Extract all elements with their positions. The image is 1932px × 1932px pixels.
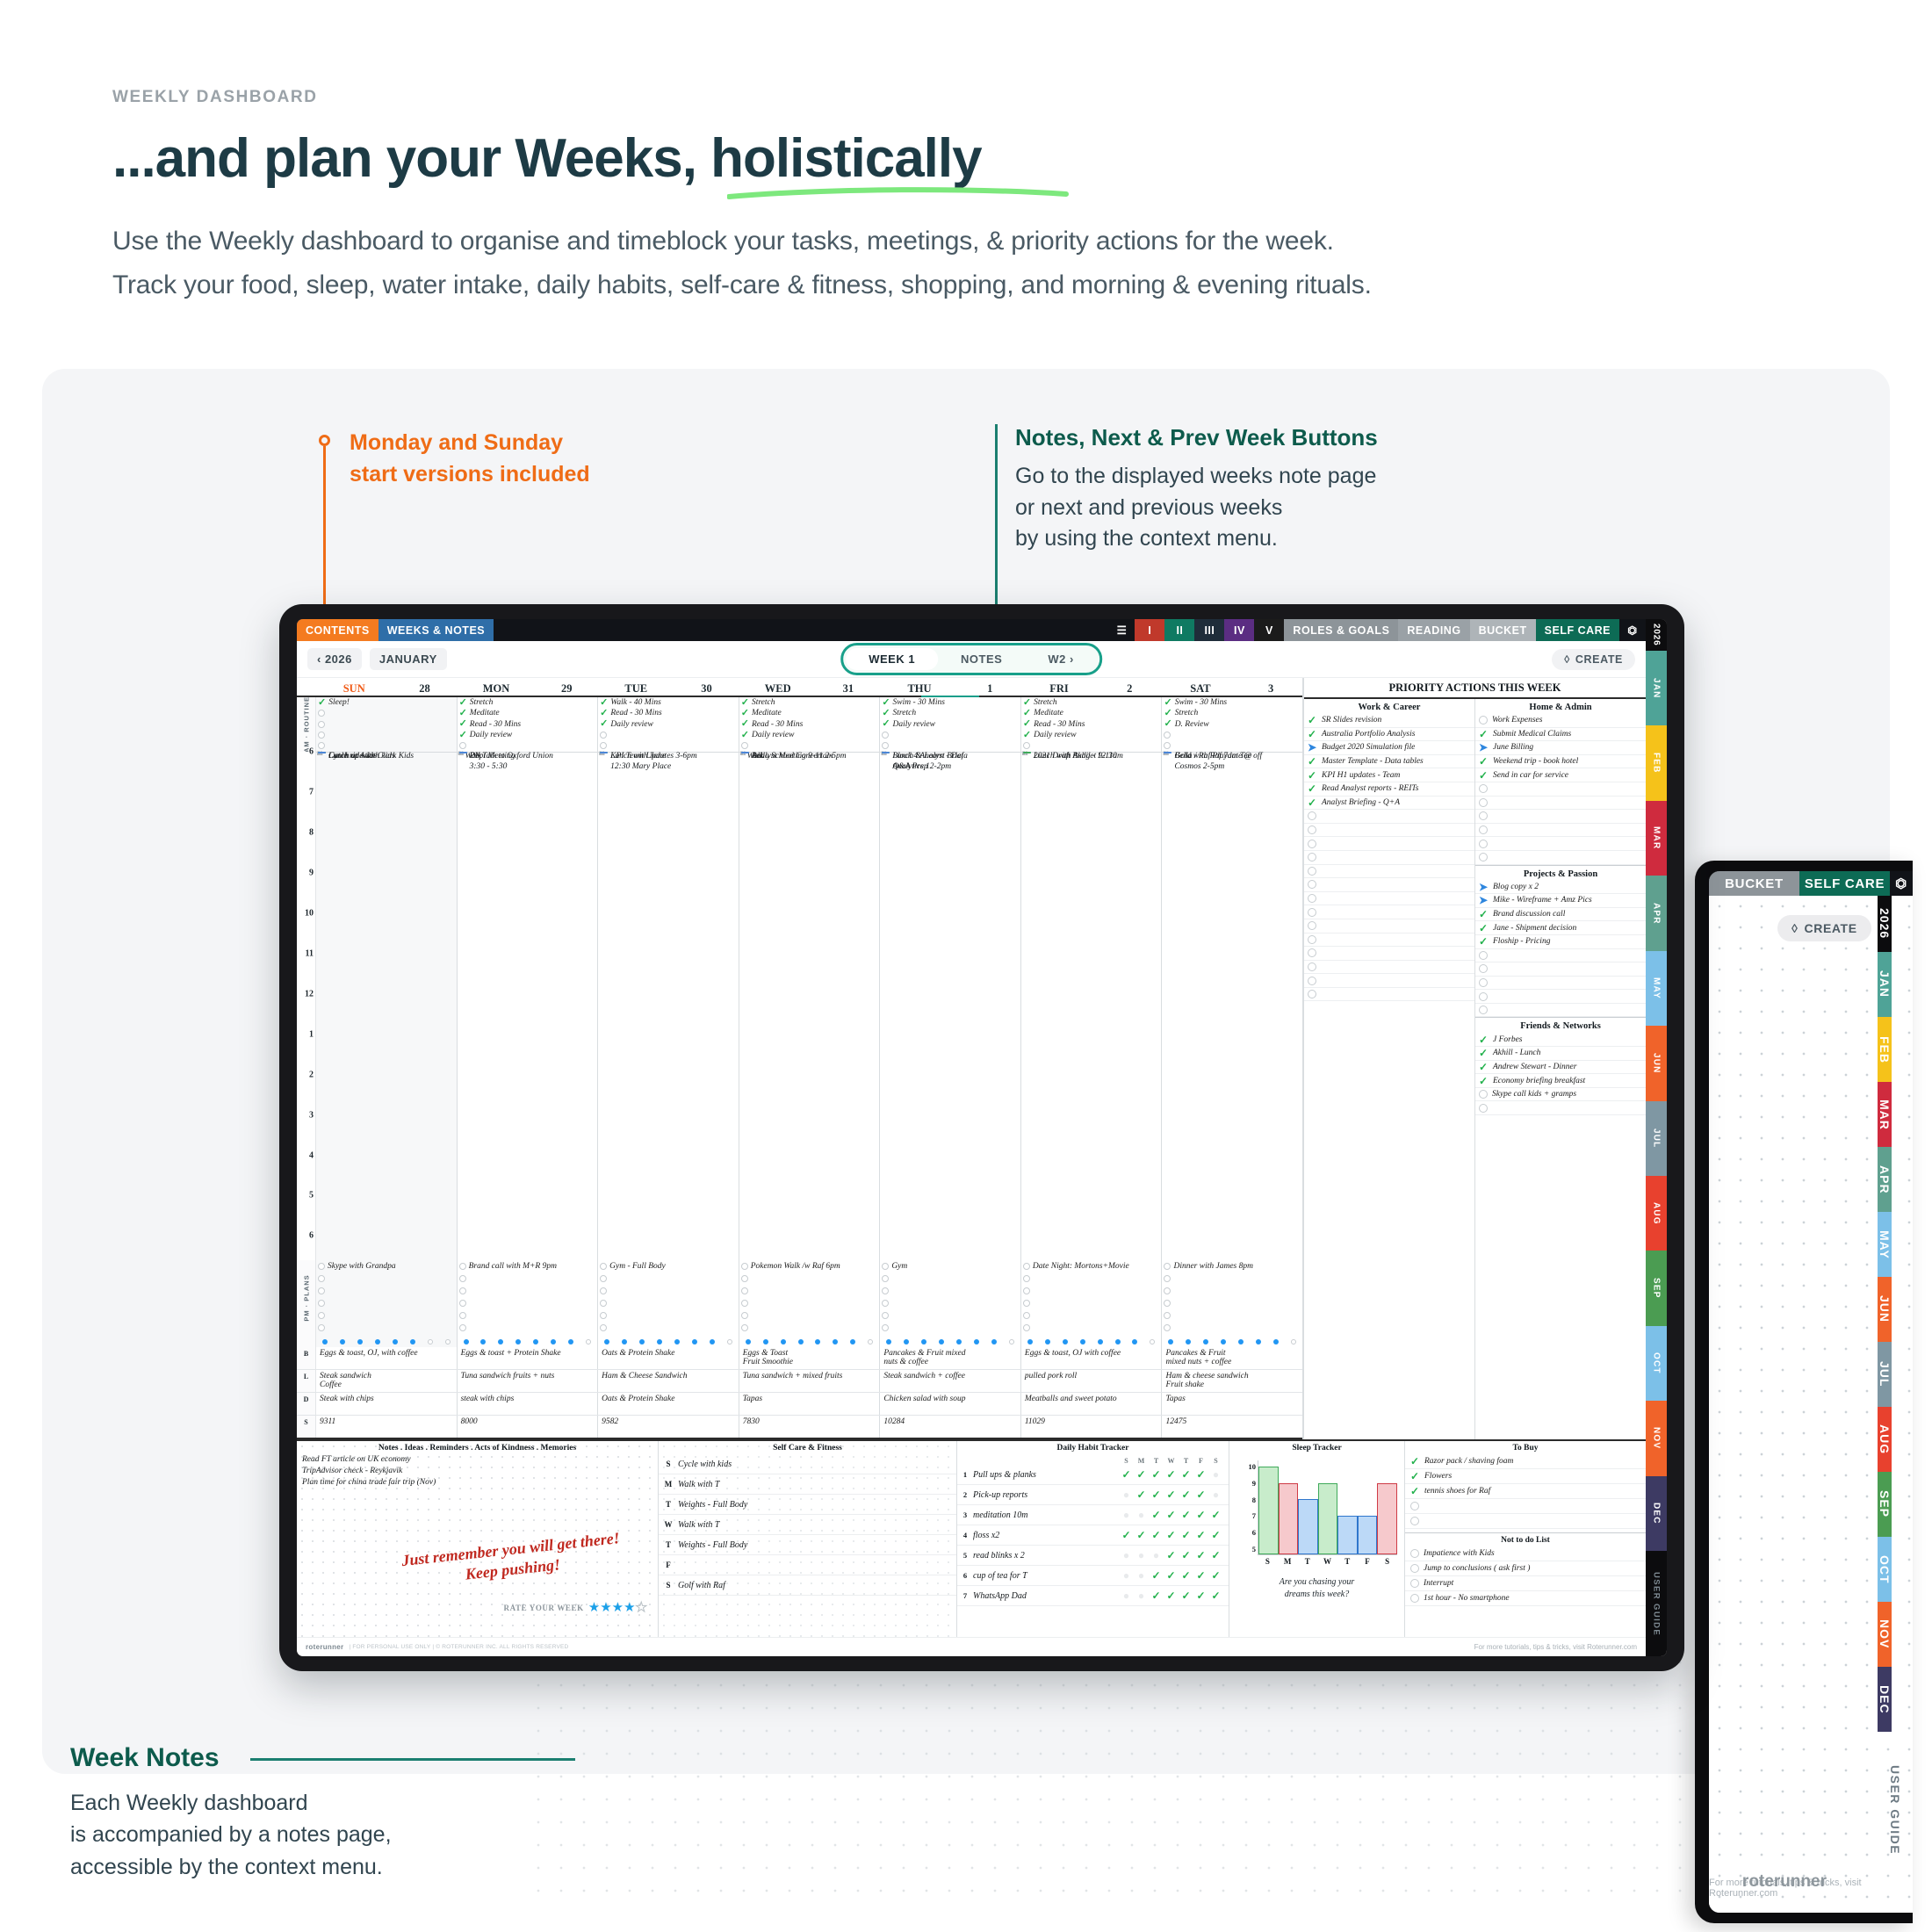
checkbox[interactable] bbox=[882, 1263, 889, 1270]
water-dot[interactable] bbox=[1045, 1339, 1050, 1344]
checkbox[interactable] bbox=[1308, 840, 1316, 848]
calendar-event-label[interactable]: Lunch with Akhil - 12:30 bbox=[1034, 752, 1117, 762]
pm-plan-row[interactable] bbox=[1021, 1285, 1162, 1297]
month-selector[interactable]: JANUARY bbox=[370, 648, 447, 670]
pm-plan-row[interactable] bbox=[1162, 1272, 1302, 1285]
am-routine-row[interactable]: ✓Stretch bbox=[1162, 708, 1302, 718]
water-dot[interactable] bbox=[833, 1339, 838, 1344]
am-routine-row[interactable] bbox=[316, 708, 457, 718]
check-icon[interactable]: ✓ bbox=[1208, 1510, 1223, 1520]
habit-empty-dot[interactable]: ● bbox=[1134, 1590, 1149, 1601]
checkbox[interactable] bbox=[882, 1287, 889, 1294]
meal-cell[interactable]: steak with chips bbox=[458, 1393, 599, 1415]
checkbox[interactable] bbox=[1308, 894, 1316, 903]
am-routine-column[interactable]: ✓Walk - 40 Mins✓Read - 30 Mins✓Daily rev… bbox=[598, 697, 739, 752]
check-icon[interactable]: ✓ bbox=[1179, 1530, 1193, 1540]
water-dot[interactable] bbox=[428, 1339, 433, 1344]
calendar-event-block[interactable] bbox=[741, 752, 749, 753]
water-dot[interactable] bbox=[1186, 1339, 1191, 1344]
month-tab-dec[interactable]: DEC bbox=[1646, 1476, 1667, 1551]
water-dot[interactable] bbox=[1291, 1339, 1296, 1344]
am-routine-row[interactable] bbox=[458, 740, 598, 751]
month-tab-jul[interactable]: JUL bbox=[1646, 1101, 1667, 1176]
check-icon[interactable]: ✓ bbox=[1149, 1530, 1164, 1540]
am-routine-row[interactable]: ✓Stretch bbox=[1021, 697, 1162, 708]
am-routine-row[interactable]: ✓Stretch bbox=[880, 708, 1020, 718]
meal-cell[interactable]: Ham & Cheese Sandwich bbox=[598, 1370, 739, 1392]
meal-cell[interactable]: 12475 bbox=[1162, 1416, 1302, 1438]
water-dot[interactable] bbox=[1273, 1339, 1279, 1344]
calendar-event-block[interactable] bbox=[1164, 752, 1171, 753]
star-icon[interactable]: ★ bbox=[624, 1600, 635, 1615]
pm-plan-row[interactable]: Brand call with M+R 9pm bbox=[458, 1260, 598, 1272]
day-header-fri[interactable]: FRI2 bbox=[1020, 682, 1161, 696]
check-icon[interactable]: ✓ bbox=[1134, 1530, 1149, 1540]
water-intake-column[interactable] bbox=[598, 1336, 739, 1347]
meal-cell[interactable]: Eggs & toast, OJ with coffee bbox=[1021, 1347, 1163, 1369]
am-routine-row[interactable]: ✓Read - 30 Mins bbox=[1021, 719, 1162, 730]
check-icon[interactable]: ✓ bbox=[459, 719, 467, 729]
back-month-tab-may[interactable]: MAY bbox=[1878, 1212, 1892, 1277]
check-icon[interactable]: ✓ bbox=[1149, 1489, 1164, 1500]
priority-item-empty[interactable] bbox=[1475, 949, 1646, 963]
pm-plan-row[interactable] bbox=[880, 1285, 1020, 1297]
nav-roman-5[interactable]: V bbox=[1254, 619, 1284, 641]
habit-empty-dot[interactable]: ● bbox=[1208, 1489, 1223, 1500]
rate-your-week[interactable]: RATE YOUR WEEK ★★★★★ bbox=[503, 1600, 647, 1616]
month-tab-mar[interactable]: MAR bbox=[1646, 801, 1667, 876]
priority-item[interactable]: Skype call kids + gramps bbox=[1475, 1088, 1646, 1102]
am-routine-row[interactable]: ✓Daily review bbox=[598, 719, 739, 730]
note-line[interactable]: TripAdvisor check - Reykjavik bbox=[297, 1466, 658, 1477]
checkbox[interactable] bbox=[459, 1287, 466, 1294]
pm-plan-row[interactable] bbox=[739, 1272, 880, 1285]
arrow-icon[interactable]: ➤ bbox=[1479, 882, 1489, 892]
meal-cell[interactable]: Meatballs and sweet potato bbox=[1021, 1393, 1163, 1415]
priority-item[interactable]: ✓Analyst Briefing - Q+A bbox=[1304, 797, 1474, 811]
checkbox[interactable] bbox=[1023, 1287, 1030, 1294]
day-header-sat[interactable]: SAT3 bbox=[1162, 682, 1302, 696]
am-routine-row[interactable] bbox=[880, 730, 1020, 740]
day-header-wed[interactable]: WED31 bbox=[739, 682, 879, 696]
water-dot[interactable] bbox=[622, 1339, 627, 1344]
check-icon[interactable]: ✓ bbox=[1208, 1530, 1223, 1540]
checkbox[interactable] bbox=[1479, 1090, 1488, 1099]
checkbox[interactable] bbox=[741, 1312, 748, 1319]
am-routine-row[interactable]: ✓Meditate bbox=[739, 708, 880, 718]
pm-plan-row[interactable]: Skype with Grandpa bbox=[316, 1260, 457, 1272]
day-timegrid-column[interactable]: 6789101112123456WalkDept MeetingPN Talk … bbox=[458, 752, 599, 1260]
checkbox[interactable] bbox=[1164, 1324, 1171, 1331]
water-dot[interactable] bbox=[1132, 1339, 1137, 1344]
checkbox[interactable] bbox=[741, 742, 748, 749]
priority-item-empty[interactable] bbox=[1475, 1101, 1646, 1115]
self-care-row[interactable]: SGolf with Raf bbox=[659, 1575, 956, 1596]
check-icon[interactable]: ✓ bbox=[1164, 1570, 1179, 1581]
pm-plan-row[interactable] bbox=[880, 1297, 1020, 1309]
note-line[interactable]: Plan time for china trade fair trip (Nov… bbox=[297, 1477, 658, 1489]
meal-cell[interactable]: Pancakes & Fruit mixednuts & coffee bbox=[880, 1347, 1021, 1369]
habit-empty-dot[interactable]: ● bbox=[1149, 1550, 1164, 1561]
check-icon[interactable]: ✓ bbox=[1193, 1570, 1208, 1581]
month-tab-may[interactable]: MAY bbox=[1646, 951, 1667, 1026]
am-routine-row[interactable]: ✓Meditate bbox=[458, 708, 598, 718]
check-icon[interactable]: ✓ bbox=[1134, 1489, 1149, 1500]
water-dot[interactable] bbox=[445, 1339, 451, 1344]
meal-cell[interactable]: Tapas bbox=[1162, 1393, 1302, 1415]
am-routine-row[interactable]: ✓Read - 30 Mins bbox=[458, 719, 598, 730]
checkbox[interactable] bbox=[1479, 978, 1488, 987]
pm-plan-row[interactable] bbox=[598, 1322, 739, 1334]
checkbox[interactable] bbox=[318, 732, 325, 739]
water-dot[interactable] bbox=[991, 1339, 997, 1344]
priority-item-empty[interactable] bbox=[1304, 837, 1474, 851]
month-tab-oct[interactable]: OCT bbox=[1646, 1326, 1667, 1401]
am-routine-row[interactable]: ✓Stretch bbox=[458, 697, 598, 708]
calendar-event-label[interactable]: PN Talk to Oxford Union3:30 - 5:30 bbox=[470, 752, 553, 772]
check-icon[interactable]: ✓ bbox=[1479, 1048, 1489, 1058]
checkbox[interactable] bbox=[459, 742, 466, 749]
priority-item-empty[interactable] bbox=[1475, 1004, 1646, 1018]
checkbox[interactable] bbox=[1479, 1104, 1488, 1113]
nav-weeks-notes[interactable]: WEEKS & NOTES bbox=[378, 619, 494, 641]
check-icon[interactable]: ✓ bbox=[1164, 1489, 1179, 1500]
habit-row[interactable]: 2Pick-up reports●✓✓✓✓✓● bbox=[957, 1485, 1229, 1505]
checkbox[interactable] bbox=[1308, 825, 1316, 834]
water-dot[interactable] bbox=[921, 1339, 926, 1344]
not-to-do-item[interactable]: Interrupt bbox=[1405, 1576, 1646, 1591]
back-month-tab-feb[interactable]: FEB bbox=[1878, 1017, 1892, 1082]
arrow-icon[interactable]: ➤ bbox=[1479, 742, 1489, 753]
check-icon[interactable]: ✓ bbox=[1479, 936, 1489, 947]
checkbox[interactable] bbox=[1410, 1517, 1419, 1525]
self-care-row[interactable]: SCycle with kids bbox=[659, 1454, 956, 1474]
priority-item[interactable]: ✓Master Template - Data tables bbox=[1304, 755, 1474, 769]
check-icon[interactable]: ✓ bbox=[1119, 1469, 1134, 1480]
water-dot[interactable] bbox=[850, 1339, 855, 1344]
checkbox[interactable] bbox=[1308, 962, 1316, 971]
pm-plan-row[interactable] bbox=[598, 1285, 739, 1297]
checkbox[interactable] bbox=[1164, 742, 1171, 749]
water-intake-column[interactable] bbox=[1162, 1336, 1302, 1347]
priority-item[interactable]: ✓Jane - Shipment decision bbox=[1475, 921, 1646, 935]
checkbox[interactable] bbox=[1164, 1312, 1171, 1319]
habit-empty-dot[interactable]: ● bbox=[1119, 1570, 1134, 1581]
checkbox[interactable] bbox=[1164, 1300, 1171, 1307]
priority-item-empty[interactable] bbox=[1475, 797, 1646, 811]
check-icon[interactable]: ✓ bbox=[459, 698, 467, 708]
pm-plan-row[interactable] bbox=[739, 1297, 880, 1309]
water-dot[interactable] bbox=[498, 1339, 503, 1344]
habit-empty-dot[interactable]: ● bbox=[1134, 1510, 1149, 1520]
water-dot[interactable] bbox=[798, 1339, 804, 1344]
checkbox[interactable] bbox=[1479, 840, 1488, 848]
habit-marks[interactable]: ✓✓✓✓✓✓● bbox=[1119, 1469, 1229, 1480]
checkbox[interactable] bbox=[600, 1312, 607, 1319]
calendar-event-block[interactable] bbox=[882, 752, 890, 753]
pm-plan-row[interactable] bbox=[1162, 1322, 1302, 1334]
checkbox[interactable] bbox=[741, 1287, 748, 1294]
checkbox[interactable] bbox=[1479, 798, 1488, 807]
pm-plan-row[interactable] bbox=[316, 1285, 457, 1297]
water-dot[interactable] bbox=[1027, 1339, 1033, 1344]
back-tablet-user-guide[interactable]: USER GUIDE bbox=[1878, 1727, 1913, 1893]
priority-item[interactable]: ✓Weekend trip - book hotel bbox=[1475, 755, 1646, 769]
priority-item[interactable]: ➤Mike - Wireframe + Amz Pics bbox=[1475, 894, 1646, 908]
check-icon[interactable]: ✓ bbox=[1164, 709, 1171, 718]
priority-item-empty[interactable] bbox=[1475, 837, 1646, 851]
arrow-icon[interactable]: ➤ bbox=[1479, 895, 1489, 905]
month-tab-aug[interactable]: AUG bbox=[1646, 1176, 1667, 1251]
meal-cell[interactable]: Ham & cheese sandwichFruit shake bbox=[1162, 1370, 1302, 1392]
priority-item-empty[interactable] bbox=[1304, 919, 1474, 934]
priority-item-empty[interactable] bbox=[1304, 865, 1474, 879]
pm-plan-row[interactable]: Gym - Full Body bbox=[598, 1260, 739, 1272]
checkbox[interactable] bbox=[600, 1287, 607, 1294]
checkbox[interactable] bbox=[318, 721, 325, 728]
calendar-event-block[interactable] bbox=[1023, 752, 1031, 753]
check-icon[interactable]: ✓ bbox=[1023, 698, 1031, 708]
habit-empty-dot[interactable]: ● bbox=[1119, 1590, 1134, 1601]
meal-cell[interactable]: Tuna sandwich fruits + nuts bbox=[458, 1370, 599, 1392]
pm-plan-row[interactable] bbox=[1162, 1285, 1302, 1297]
water-dot[interactable] bbox=[657, 1339, 662, 1344]
priority-item-empty[interactable] bbox=[1304, 974, 1474, 988]
back-tablet-create-button[interactable]: ◊ CREATE bbox=[1777, 915, 1871, 941]
star-icon[interactable]: ★ bbox=[600, 1600, 611, 1615]
day-header-tue[interactable]: TUE30 bbox=[598, 682, 739, 696]
calendar-event-block[interactable] bbox=[318, 752, 326, 753]
day-timegrid-column[interactable]: 6789101112123456Lunch with Jane12:30 Mar… bbox=[598, 752, 739, 1260]
priority-item[interactable]: ✓Australia Portfolio Analysis bbox=[1304, 728, 1474, 742]
priority-item-empty[interactable] bbox=[1304, 947, 1474, 961]
water-dot[interactable] bbox=[1150, 1339, 1155, 1344]
priority-item-empty[interactable] bbox=[1475, 810, 1646, 824]
priority-item-empty[interactable] bbox=[1475, 977, 1646, 991]
water-dot[interactable] bbox=[710, 1339, 715, 1344]
calendar-event-label[interactable]: Bella / Raf Playdate @Cosmos 2-5pm bbox=[1174, 752, 1251, 772]
water-dot[interactable] bbox=[692, 1339, 697, 1344]
habit-marks[interactable]: ●✓✓✓✓✓● bbox=[1119, 1489, 1229, 1500]
star-icon[interactable]: ★ bbox=[612, 1600, 624, 1615]
checkbox[interactable] bbox=[600, 1263, 607, 1270]
am-routine-column[interactable]: ✓Stretch✓Meditate✓Read - 30 Mins✓Daily r… bbox=[458, 697, 599, 752]
priority-item-empty[interactable] bbox=[1304, 892, 1474, 906]
habit-empty-dot[interactable]: ● bbox=[1119, 1550, 1134, 1561]
am-routine-row[interactable] bbox=[1021, 740, 1162, 751]
priority-item-empty[interactable] bbox=[1304, 988, 1474, 1002]
check-icon[interactable]: ✓ bbox=[1479, 923, 1489, 934]
check-icon[interactable]: ✓ bbox=[459, 709, 467, 718]
priority-item-empty[interactable] bbox=[1475, 962, 1646, 977]
back-month-tab-jul[interactable]: JUL bbox=[1878, 1342, 1892, 1407]
pm-plan-row[interactable] bbox=[316, 1309, 457, 1322]
habit-empty-dot[interactable]: ● bbox=[1119, 1489, 1134, 1500]
checkbox[interactable] bbox=[741, 1263, 748, 1270]
water-dot[interactable] bbox=[815, 1339, 820, 1344]
nav-roles-goals[interactable]: ROLES & GOALS bbox=[1284, 619, 1398, 641]
meal-cell[interactable]: Pancakes & Fruitmixed nuts + coffee bbox=[1162, 1347, 1302, 1369]
meal-cell[interactable]: 11029 bbox=[1021, 1416, 1163, 1438]
calendar-event-label[interactable]: KPI Team Updates 3-6pm bbox=[610, 752, 697, 762]
checkbox[interactable] bbox=[600, 742, 607, 749]
check-icon[interactable]: ✓ bbox=[600, 709, 608, 718]
checkbox[interactable] bbox=[882, 1300, 889, 1307]
am-routine-row[interactable]: ✓Daily review bbox=[1021, 730, 1162, 740]
back-month-tab-jan[interactable]: JAN bbox=[1878, 952, 1892, 1017]
water-dot[interactable] bbox=[674, 1339, 680, 1344]
am-routine-row[interactable] bbox=[1162, 740, 1302, 751]
check-icon[interactable]: ✓ bbox=[1179, 1510, 1193, 1520]
year-selector[interactable]: ‹ 2026 bbox=[307, 648, 362, 670]
nav-bucket[interactable]: BUCKET bbox=[1470, 619, 1536, 641]
arrow-icon[interactable]: ➤ bbox=[1308, 742, 1317, 753]
check-icon[interactable]: ✓ bbox=[600, 698, 608, 708]
checkbox[interactable] bbox=[318, 1324, 325, 1331]
habit-marks[interactable]: ●●✓✓✓✓✓ bbox=[1119, 1570, 1229, 1581]
check-icon[interactable]: ✓ bbox=[1179, 1469, 1193, 1480]
create-button[interactable]: ◊ CREATE bbox=[1552, 649, 1635, 670]
nav-contents[interactable]: CONTENTS bbox=[297, 619, 378, 641]
checkbox[interactable] bbox=[318, 710, 325, 717]
check-icon[interactable]: ✓ bbox=[1164, 1530, 1179, 1540]
checkbox[interactable] bbox=[882, 1275, 889, 1282]
back-tab-self-care[interactable]: SELF CARE bbox=[1799, 871, 1890, 896]
pm-plans-column[interactable]: Gym - Full Body bbox=[598, 1260, 739, 1336]
priority-item[interactable]: ➤June Billing bbox=[1475, 741, 1646, 755]
not-to-do-item[interactable]: 1st hour - No smartphone bbox=[1405, 1591, 1646, 1606]
pm-plan-row[interactable] bbox=[739, 1322, 880, 1334]
checkbox[interactable] bbox=[1164, 1287, 1171, 1294]
water-dot[interactable] bbox=[939, 1339, 944, 1344]
pm-plan-row[interactable] bbox=[458, 1297, 598, 1309]
water-dot[interactable] bbox=[1115, 1339, 1121, 1344]
not-to-do-item[interactable]: Jump to conclusions ( ask first ) bbox=[1405, 1561, 1646, 1576]
check-icon[interactable]: ✓ bbox=[741, 698, 749, 708]
pm-plan-row[interactable] bbox=[316, 1272, 457, 1285]
water-dot[interactable] bbox=[1221, 1339, 1226, 1344]
priority-item[interactable]: ➤Budget 2020 Simulation file bbox=[1304, 741, 1474, 755]
to-buy-item[interactable]: ✓tennis shoes for Raf bbox=[1405, 1484, 1646, 1499]
priority-item[interactable]: Work Expenses bbox=[1475, 714, 1646, 728]
priority-item[interactable]: ✓Floship - Pricing bbox=[1475, 935, 1646, 949]
am-routine-row[interactable]: ✓Walk - 40 Mins bbox=[598, 697, 739, 708]
day-header-mon[interactable]: MON29 bbox=[457, 682, 597, 696]
am-routine-row[interactable]: ✓Swim - 30 Mins bbox=[880, 697, 1020, 708]
back-month-tab-sep[interactable]: SEP bbox=[1878, 1472, 1892, 1537]
checkbox[interactable] bbox=[1410, 1594, 1419, 1603]
habit-empty-dot[interactable]: ● bbox=[1134, 1550, 1149, 1561]
priority-item-empty[interactable] bbox=[1304, 934, 1474, 948]
am-routine-row[interactable] bbox=[880, 740, 1020, 751]
check-icon[interactable]: ✓ bbox=[1193, 1530, 1208, 1540]
back-month-tab-apr[interactable]: APR bbox=[1878, 1147, 1892, 1212]
to-buy-item[interactable] bbox=[1405, 1499, 1646, 1514]
check-icon[interactable]: ✓ bbox=[1119, 1530, 1134, 1540]
nav-reading[interactable]: READING bbox=[1398, 619, 1469, 641]
am-routine-row[interactable]: ✓Meditate bbox=[1021, 708, 1162, 718]
priority-item-empty[interactable] bbox=[1304, 878, 1474, 892]
day-timegrid-column[interactable]: 67891011121234562021 Draft Budget 9-11am… bbox=[1021, 752, 1163, 1260]
am-routine-row[interactable] bbox=[1162, 730, 1302, 740]
checkbox[interactable] bbox=[1023, 1275, 1030, 1282]
habit-row[interactable]: 1Pull ups & planks✓✓✓✓✓✓● bbox=[957, 1465, 1229, 1485]
month-tab-sep[interactable]: SEP bbox=[1646, 1251, 1667, 1325]
water-dot[interactable] bbox=[533, 1339, 538, 1344]
habit-marks[interactable]: ●●✓✓✓✓✓ bbox=[1119, 1510, 1229, 1520]
check-icon[interactable]: ✓ bbox=[1208, 1550, 1223, 1561]
checkbox[interactable] bbox=[1308, 867, 1316, 876]
checkbox[interactable] bbox=[1308, 977, 1316, 985]
list-icon[interactable]: ☰ bbox=[1108, 619, 1135, 641]
pm-plan-row[interactable] bbox=[458, 1272, 598, 1285]
pm-plan-row[interactable] bbox=[1162, 1309, 1302, 1322]
check-icon[interactable]: ✓ bbox=[1410, 1486, 1420, 1496]
day-timegrid-column[interactable]: 6789101112123456Lunch & Learn - DataAnal… bbox=[880, 752, 1021, 1260]
checkbox[interactable] bbox=[459, 1275, 466, 1282]
water-dot[interactable] bbox=[604, 1339, 609, 1344]
water-dot[interactable] bbox=[1063, 1339, 1068, 1344]
pm-plan-row[interactable]: Dinner with James 8pm bbox=[1162, 1260, 1302, 1272]
check-icon[interactable]: ✓ bbox=[1308, 715, 1317, 725]
am-routine-row[interactable]: ✓D. Review bbox=[1162, 719, 1302, 730]
priority-item-empty[interactable] bbox=[1475, 824, 1646, 838]
checkbox[interactable] bbox=[318, 1287, 325, 1294]
checkbox[interactable] bbox=[1164, 1263, 1171, 1270]
am-routine-column[interactable]: ✓Stretch✓Meditate✓Read - 30 Mins✓Daily r… bbox=[1021, 697, 1163, 752]
check-icon[interactable]: ✓ bbox=[1179, 1489, 1193, 1500]
checkbox[interactable] bbox=[1479, 992, 1488, 1001]
checkbox[interactable] bbox=[1479, 784, 1488, 793]
checkbox[interactable] bbox=[741, 1275, 748, 1282]
self-care-row[interactable]: WWalk with T bbox=[659, 1515, 956, 1535]
checkbox[interactable] bbox=[1308, 935, 1316, 944]
calendar-event-label[interactable]: Block 4 Analyst BriefQ&A Prep bbox=[892, 752, 963, 772]
check-icon[interactable]: ✓ bbox=[1149, 1510, 1164, 1520]
pm-plans-column[interactable]: Date Night: Mortons+Movie bbox=[1021, 1260, 1163, 1336]
priority-item-empty[interactable] bbox=[1304, 824, 1474, 838]
check-icon[interactable]: ✓ bbox=[1164, 698, 1171, 708]
check-icon[interactable]: ✓ bbox=[1164, 1510, 1179, 1520]
check-icon[interactable]: ✓ bbox=[882, 719, 890, 729]
notes-section[interactable]: Notes . Ideas . Reminders . Acts of Kind… bbox=[297, 1441, 659, 1637]
pm-plan-row[interactable] bbox=[1162, 1297, 1302, 1309]
check-icon[interactable]: ✓ bbox=[1149, 1570, 1164, 1581]
priority-item-empty[interactable] bbox=[1304, 905, 1474, 919]
not-to-do-item[interactable]: Impatience with Kids bbox=[1405, 1546, 1646, 1561]
month-rail-year[interactable]: 2026 bbox=[1646, 619, 1667, 651]
priority-item-empty[interactable] bbox=[1475, 990, 1646, 1004]
checkbox[interactable] bbox=[1023, 1312, 1030, 1319]
self-care-row[interactable]: MWalk with T bbox=[659, 1474, 956, 1495]
star-icon[interactable]: ★ bbox=[636, 1600, 647, 1615]
star-icon[interactable]: ★ bbox=[588, 1600, 600, 1615]
calendar-event-label[interactable]: Catch up with Clark Kids bbox=[328, 752, 414, 762]
check-icon[interactable]: ✓ bbox=[741, 731, 749, 740]
calendar-event-block[interactable] bbox=[600, 752, 608, 753]
checkbox[interactable] bbox=[1410, 1564, 1419, 1573]
check-icon[interactable]: ✓ bbox=[1308, 783, 1317, 794]
am-routine-row[interactable] bbox=[316, 730, 457, 740]
check-icon[interactable]: ✓ bbox=[1193, 1590, 1208, 1601]
check-icon[interactable]: ✓ bbox=[1193, 1469, 1208, 1480]
check-icon[interactable]: ✓ bbox=[1179, 1590, 1193, 1601]
back-month-rail-year[interactable]: 2026 bbox=[1878, 896, 1892, 952]
check-icon[interactable]: ✓ bbox=[1164, 1550, 1179, 1561]
meal-cell[interactable]: Eggs & toast, OJ, with coffee bbox=[316, 1347, 458, 1369]
pm-plan-row[interactable] bbox=[458, 1322, 598, 1334]
water-dot[interactable] bbox=[393, 1339, 398, 1344]
